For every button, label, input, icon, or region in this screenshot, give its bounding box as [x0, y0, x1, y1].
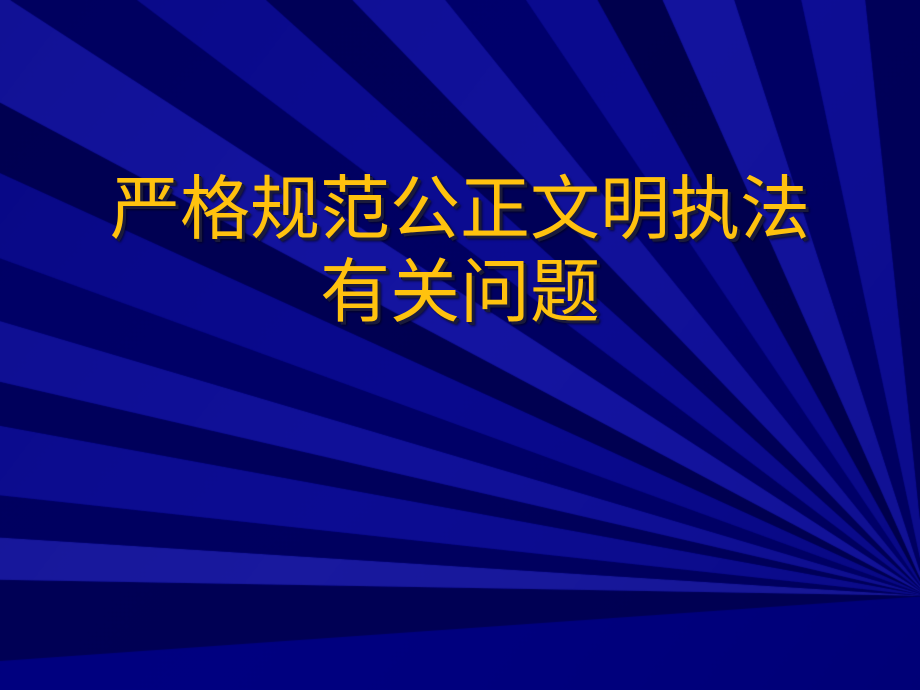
slide-background-rays	[0, 0, 920, 690]
presentation-slide: 严格规范公正文明执法 有关问题	[0, 0, 920, 690]
title-line-2: 有关问题	[0, 251, 920, 334]
title-line-1: 严格规范公正文明执法	[0, 168, 920, 251]
slide-title: 严格规范公正文明执法 有关问题	[0, 168, 920, 334]
